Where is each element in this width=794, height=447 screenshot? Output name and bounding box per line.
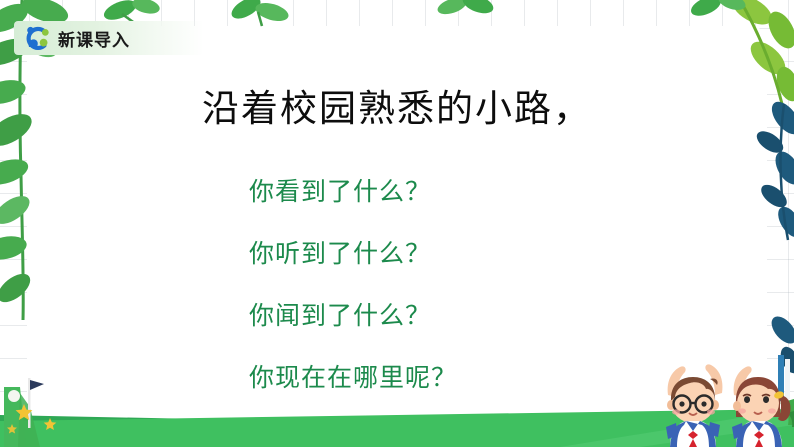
page-title: 沿着校园熟悉的小路， xyxy=(0,78,794,132)
question-item-2: 你听到了什么？ xyxy=(249,234,669,270)
question-item-3: 你闻到了什么？ xyxy=(249,296,669,332)
slide-canvas: 新课导入 沿着校园熟悉的小路， 你看到了什么？ 你听到了什么？ 你闻到了什么？ … xyxy=(0,0,794,447)
question-list: 你看到了什么？ 你听到了什么？ 你闻到了什么？ 你现在在哪里呢？ xyxy=(249,172,669,394)
section-banner-title: 新课导入 xyxy=(58,26,130,51)
people-circle-logo-icon xyxy=(24,25,50,51)
question-item-4: 你现在在哪里呢？ xyxy=(249,358,669,394)
question-item-1: 你看到了什么？ xyxy=(249,172,669,208)
section-banner: 新课导入 xyxy=(14,21,204,55)
